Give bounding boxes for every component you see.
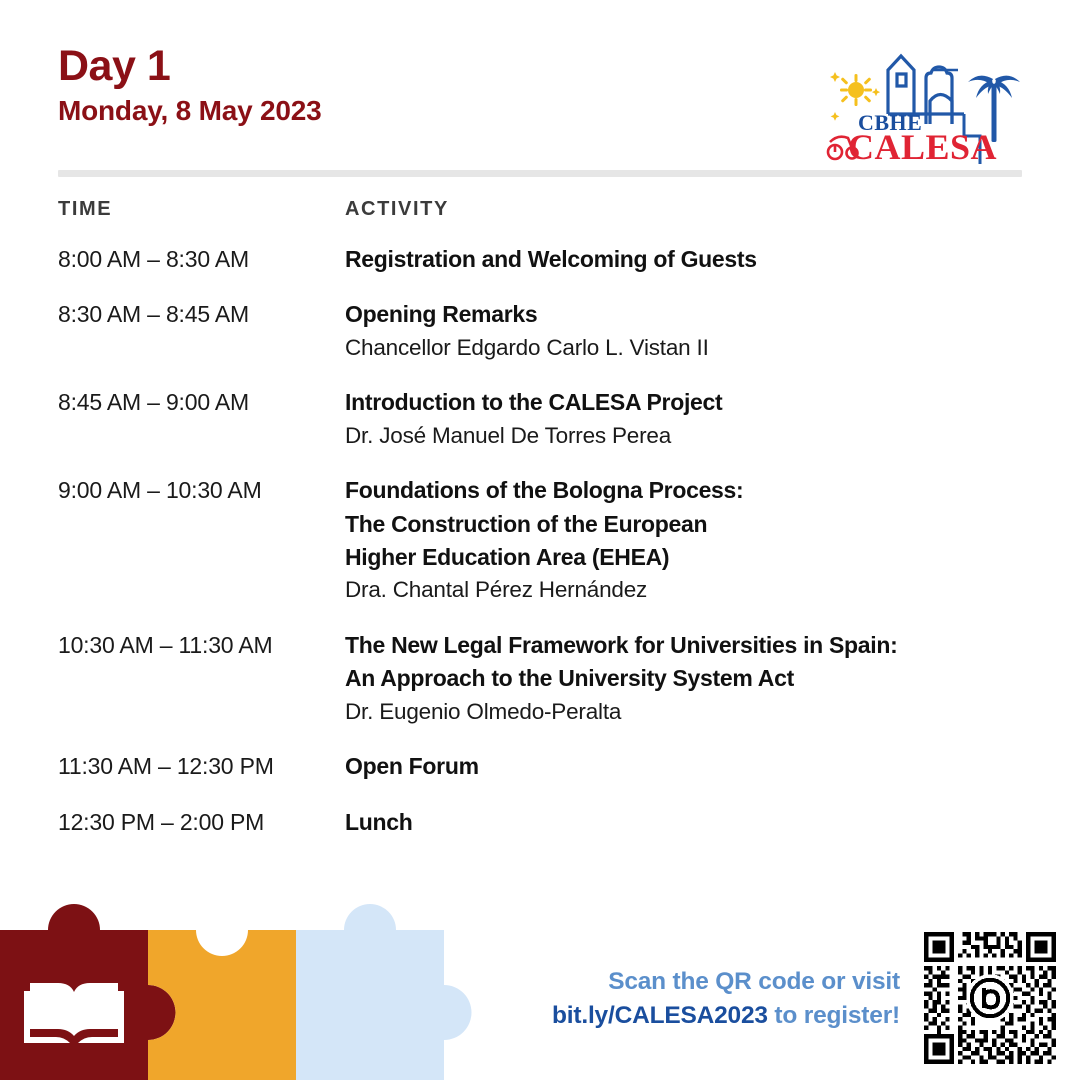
table-row: 8:45 AM – 9:00 AMIntroduction to the CAL… <box>58 386 1038 452</box>
row-activity: The New Legal Framework for Universities… <box>345 629 1038 728</box>
table-row: 9:00 AM – 10:30 AMFoundations of the Bol… <box>58 474 1038 607</box>
activity-speaker: Dr. Eugenio Olmedo-Peralta <box>345 696 1038 729</box>
activity-title: Lunch <box>345 806 1038 839</box>
row-time: 11:30 AM – 12:30 PM <box>58 750 345 783</box>
activity-title: Registration and Welcoming of Guests <box>345 243 1038 276</box>
activity-title: The New Legal Framework for Universities… <box>345 629 1038 696</box>
activity-title-line: Open Forum <box>345 750 1038 783</box>
row-time: 10:30 AM – 11:30 AM <box>58 629 345 728</box>
page-header: Day 1 Monday, 8 May 2023 <box>58 44 1022 154</box>
cbhe-calesa-logo: CBHE CALESA <box>822 46 1022 164</box>
column-header-activity: ACTIVITY <box>345 198 1038 221</box>
logo-calesa-text: CALESA <box>848 127 997 164</box>
activity-title-line: Lunch <box>345 806 1038 839</box>
row-time: 8:30 AM – 8:45 AM <box>58 298 345 364</box>
row-activity: Lunch <box>345 806 1038 839</box>
activity-title-line: Opening Remarks <box>345 298 1038 331</box>
row-time: 8:00 AM – 8:30 AM <box>58 243 345 276</box>
puzzle-graphic <box>0 895 500 1080</box>
puzzle-piece-blue <box>296 904 471 1080</box>
activity-title-line: An Approach to the University System Act <box>345 662 1038 695</box>
activity-title-line: Foundations of the Bologna Process: <box>345 474 1038 507</box>
activity-speaker: Chancellor Edgardo Carlo L. Vistan II <box>345 332 1038 365</box>
row-activity: Introduction to the CALESA ProjectDr. Jo… <box>345 386 1038 452</box>
schedule-table: TIME ACTIVITY 8:00 AM – 8:30 AMRegistrat… <box>58 198 1038 839</box>
table-row: 8:00 AM – 8:30 AMRegistration and Welcom… <box>58 243 1038 276</box>
activity-title-line: Higher Education Area (EHEA) <box>345 541 1038 574</box>
qr-code[interactable] <box>920 928 1060 1068</box>
activity-speaker: Dr. José Manuel De Torres Perea <box>345 420 1038 453</box>
row-time: 12:30 PM – 2:00 PM <box>58 806 345 839</box>
table-row: 10:30 AM – 11:30 AMThe New Legal Framewo… <box>58 629 1038 728</box>
table-row: 12:30 PM – 2:00 PMLunch <box>58 806 1038 839</box>
activity-title-line: The Construction of the European <box>345 508 1038 541</box>
row-activity: Opening RemarksChancellor Edgardo Carlo … <box>345 298 1038 364</box>
cta-line-1: Scan the QR code or visit <box>470 965 900 998</box>
activity-speaker: Dra. Chantal Pérez Hernández <box>345 574 1038 607</box>
table-body: 8:00 AM – 8:30 AMRegistration and Welcom… <box>58 243 1038 839</box>
row-activity: Foundations of the Bologna Process:The C… <box>345 474 1038 607</box>
row-time: 9:00 AM – 10:30 AM <box>58 474 345 607</box>
cta-text: Scan the QR code or visit bit.ly/CALESA2… <box>470 965 900 1032</box>
activity-title: Opening Remarks <box>345 298 1038 331</box>
cta-tail: to register! <box>768 1002 900 1029</box>
cta-line-2: bit.ly/CALESA2023 to register! <box>470 999 900 1032</box>
table-header-row: TIME ACTIVITY <box>58 198 1038 221</box>
header-divider <box>58 170 1022 177</box>
activity-title-line: Introduction to the CALESA Project <box>345 386 1038 419</box>
column-header-time: TIME <box>58 198 345 221</box>
row-activity: Registration and Welcoming of Guests <box>345 243 1038 276</box>
table-row: 11:30 AM – 12:30 PMOpen Forum <box>58 750 1038 783</box>
row-time: 8:45 AM – 9:00 AM <box>58 386 345 452</box>
cta-url[interactable]: bit.ly/CALESA2023 <box>552 1002 768 1029</box>
activity-title-line: The New Legal Framework for Universities… <box>345 629 1038 662</box>
activity-title-line: Registration and Welcoming of Guests <box>345 243 1038 276</box>
activity-title: Open Forum <box>345 750 1038 783</box>
activity-title: Introduction to the CALESA Project <box>345 386 1038 419</box>
row-activity: Open Forum <box>345 750 1038 783</box>
activity-title: Foundations of the Bologna Process:The C… <box>345 474 1038 574</box>
page-footer: Scan the QR code or visit bit.ly/CALESA2… <box>0 890 1080 1080</box>
table-row: 8:30 AM – 8:45 AMOpening RemarksChancell… <box>58 298 1038 364</box>
